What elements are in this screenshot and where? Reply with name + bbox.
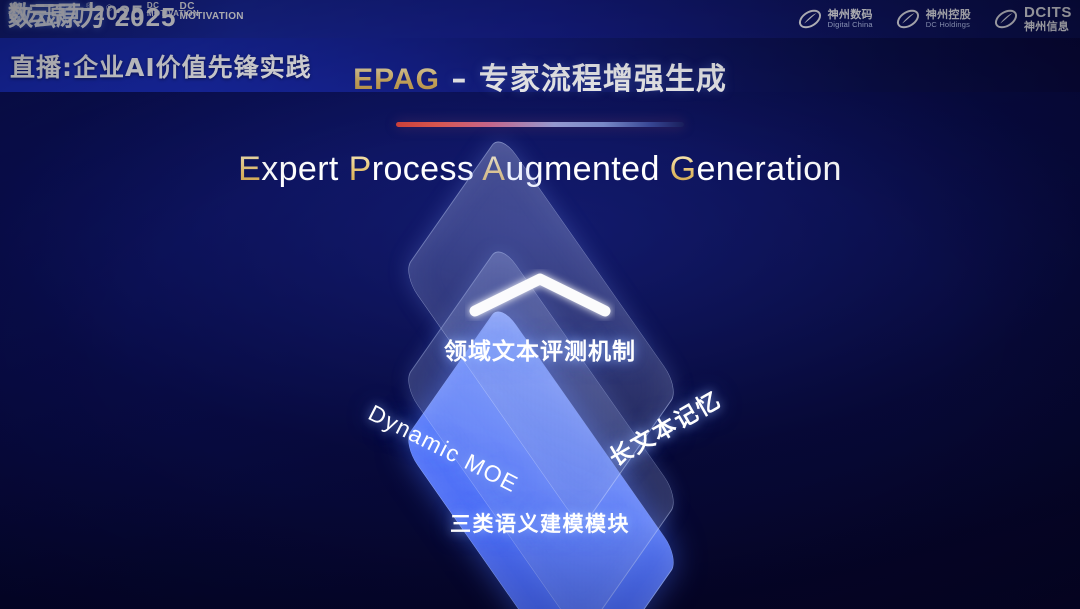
watermark-year: 2025 — [93, 2, 144, 26]
watermark-dc-motivation: DC MOTIVATION — [147, 2, 199, 18]
footer-watermark-logo: 数云原力 ® 2025 DC MOTIVATION — [8, 2, 1070, 603]
watermark-cn: 数云原力 — [8, 1, 84, 27]
watermark-registered-mark: ® — [86, 2, 91, 11]
slide-canvas: 数云原力 ® 2025 DC MOTIVATION 直播:企业AI价值先锋实践 … — [0, 0, 1080, 609]
watermark-motivation: MOTIVATION — [147, 10, 199, 18]
